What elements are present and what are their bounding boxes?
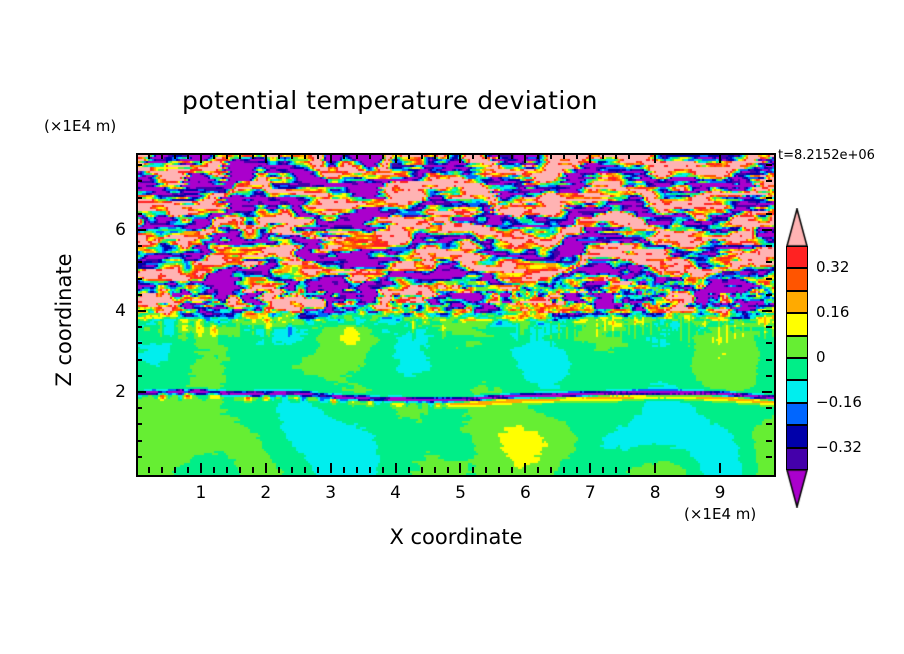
x-tick-minor-top	[511, 153, 513, 159]
x-tick-major	[395, 463, 397, 473]
z-tick-label: 4	[86, 301, 126, 321]
z-tick-major	[136, 391, 146, 393]
x-tick-minor-top	[602, 153, 604, 159]
colorbar-band	[786, 313, 808, 335]
z-tick-minor-right	[766, 294, 772, 296]
x-tick-minor	[239, 467, 241, 473]
x-tick-label: 4	[376, 483, 416, 503]
x-tick-minor	[472, 467, 474, 473]
z-tick-minor-right	[766, 407, 772, 409]
x-tick-minor	[382, 467, 384, 473]
z-tick-minor	[136, 423, 142, 425]
colorbar	[786, 246, 808, 470]
x-tick-major-top	[589, 153, 591, 163]
x-tick-minor	[615, 467, 617, 473]
timestamp-annotation: t=8.2152e+06	[778, 148, 875, 163]
colorbar-tick-label: −0.16	[816, 393, 862, 411]
z-tick-major-right	[762, 229, 772, 231]
z-tick-minor-right	[766, 261, 772, 263]
z-tick-minor	[136, 294, 142, 296]
colorbar-band	[786, 358, 808, 380]
x-tick-minor	[161, 467, 163, 473]
z-tick-minor-right	[766, 359, 772, 361]
x-tick-minor-top	[213, 153, 215, 159]
x-tick-label: 5	[440, 483, 480, 503]
z-tick-minor-right	[766, 245, 772, 247]
x-tick-minor-top	[317, 153, 319, 159]
colorbar-extend-bottom	[786, 469, 808, 508]
x-tick-minor-top	[343, 153, 345, 159]
x-tick-minor-top	[187, 153, 189, 159]
x-tick-minor	[628, 467, 630, 473]
x-tick-major-top	[200, 153, 202, 163]
x-tick-minor-top	[472, 153, 474, 159]
z-tick-minor	[136, 407, 142, 409]
z-tick-minor	[136, 180, 142, 182]
x-tick-minor-top	[576, 153, 578, 159]
x-tick-minor	[226, 467, 228, 473]
x-tick-minor	[421, 467, 423, 473]
x-tick-major	[719, 463, 721, 473]
x-tick-minor	[291, 467, 293, 473]
z-tick-minor	[136, 245, 142, 247]
x-tick-minor-top	[485, 153, 487, 159]
z-tick-label: 2	[86, 382, 126, 402]
z-tick-minor-right	[766, 342, 772, 344]
x-tick-major	[589, 463, 591, 473]
z-tick-minor	[136, 456, 142, 458]
x-tick-minor	[304, 467, 306, 473]
z-tick-major	[136, 229, 146, 231]
x-tick-minor-top	[356, 153, 358, 159]
z-axis-title: Z coordinate	[52, 160, 76, 480]
colorbar-tick-label: 0	[816, 348, 826, 366]
x-tick-minor-top	[628, 153, 630, 159]
z-tick-minor	[136, 440, 142, 442]
x-tick-minor	[213, 467, 215, 473]
z-tick-minor-right	[766, 197, 772, 199]
colorbar-band	[786, 403, 808, 425]
x-tick-minor-top	[537, 153, 539, 159]
z-tick-major	[136, 310, 146, 312]
z-tick-major-right	[762, 310, 772, 312]
x-tick-major-top	[654, 153, 656, 163]
z-tick-minor	[136, 326, 142, 328]
colorbar-band	[786, 246, 808, 268]
x-tick-minor	[252, 467, 254, 473]
colorbar-band	[786, 448, 808, 470]
z-tick-minor	[136, 164, 142, 166]
x-tick-minor	[434, 467, 436, 473]
x-tick-minor	[343, 467, 345, 473]
x-axis-title: X coordinate	[256, 525, 656, 549]
colorbar-band	[786, 291, 808, 313]
x-tick-minor-top	[563, 153, 565, 159]
x-tick-minor-top	[278, 153, 280, 159]
x-tick-minor-top	[408, 153, 410, 159]
x-tick-major-top	[524, 153, 526, 163]
x-tick-minor	[498, 467, 500, 473]
x-tick-minor	[278, 467, 280, 473]
x-tick-minor	[148, 467, 150, 473]
x-axis-unit-label: (×1E4 m)	[684, 505, 756, 523]
z-tick-minor-right	[766, 375, 772, 377]
z-tick-minor-right	[766, 278, 772, 280]
x-tick-major	[654, 463, 656, 473]
z-tick-minor-right	[766, 456, 772, 458]
x-tick-minor	[576, 467, 578, 473]
z-tick-minor	[136, 197, 142, 199]
x-tick-minor	[447, 467, 449, 473]
x-tick-minor	[485, 467, 487, 473]
x-tick-label: 1	[181, 483, 221, 503]
x-tick-minor-top	[174, 153, 176, 159]
x-tick-minor-top	[369, 153, 371, 159]
x-tick-minor	[511, 467, 513, 473]
x-tick-major-top	[395, 153, 397, 163]
colorbar-band	[786, 336, 808, 358]
x-tick-minor	[187, 467, 189, 473]
x-tick-minor-top	[291, 153, 293, 159]
x-tick-major-top	[330, 153, 332, 163]
chart-title: potential temperature deviation	[0, 86, 780, 115]
z-tick-label: 6	[86, 220, 126, 240]
z-tick-minor	[136, 342, 142, 344]
x-tick-major	[330, 463, 332, 473]
x-tick-minor-top	[447, 153, 449, 159]
x-tick-minor-top	[434, 153, 436, 159]
z-axis-unit-label: (×1E4 m)	[44, 117, 116, 135]
x-tick-major	[459, 463, 461, 473]
x-tick-minor	[408, 467, 410, 473]
x-tick-major-top	[719, 153, 721, 163]
x-tick-label: 9	[700, 483, 740, 503]
x-tick-minor-top	[252, 153, 254, 159]
x-tick-minor	[174, 467, 176, 473]
x-tick-label: 6	[505, 483, 545, 503]
z-tick-minor-right	[766, 213, 772, 215]
z-tick-minor-right	[766, 164, 772, 166]
x-tick-major	[265, 463, 267, 473]
colorbar-band	[786, 268, 808, 290]
colorbar-extend-top	[786, 208, 808, 247]
colorbar-band	[786, 380, 808, 402]
x-tick-minor-top	[161, 153, 163, 159]
x-tick-major	[200, 463, 202, 473]
x-tick-minor-top	[239, 153, 241, 159]
x-tick-minor	[356, 467, 358, 473]
x-tick-label: 2	[246, 483, 286, 503]
z-tick-minor-right	[766, 440, 772, 442]
colorbar-band	[786, 425, 808, 447]
x-tick-minor	[317, 467, 319, 473]
z-tick-minor	[136, 359, 142, 361]
x-tick-minor-top	[226, 153, 228, 159]
x-tick-minor-top	[615, 153, 617, 159]
x-tick-minor-top	[421, 153, 423, 159]
z-tick-minor	[136, 278, 142, 280]
x-tick-minor	[563, 467, 565, 473]
x-tick-major	[524, 463, 526, 473]
z-tick-minor	[136, 261, 142, 263]
x-tick-major-top	[265, 153, 267, 163]
x-tick-minor-top	[498, 153, 500, 159]
colorbar-tick-label: 0.32	[816, 258, 849, 276]
z-tick-minor-right	[766, 326, 772, 328]
x-tick-major-top	[459, 153, 461, 163]
z-tick-major-right	[762, 391, 772, 393]
x-tick-minor-top	[304, 153, 306, 159]
z-tick-minor	[136, 213, 142, 215]
x-tick-label: 8	[635, 483, 675, 503]
x-tick-minor	[537, 467, 539, 473]
x-tick-minor	[369, 467, 371, 473]
z-tick-minor-right	[766, 423, 772, 425]
x-tick-minor	[550, 467, 552, 473]
z-tick-minor	[136, 375, 142, 377]
colorbar-tick-label: −0.32	[816, 438, 862, 456]
x-tick-minor-top	[550, 153, 552, 159]
x-tick-minor-top	[382, 153, 384, 159]
x-tick-minor	[602, 467, 604, 473]
contour-plot-area	[136, 153, 776, 477]
contour-field	[138, 155, 774, 475]
x-tick-label: 7	[570, 483, 610, 503]
figure-canvas: potential temperature deviation (×1E4 m)…	[0, 0, 904, 654]
x-tick-label: 3	[311, 483, 351, 503]
colorbar-tick-label: 0.16	[816, 303, 849, 321]
x-tick-minor-top	[148, 153, 150, 159]
z-tick-minor-right	[766, 180, 772, 182]
